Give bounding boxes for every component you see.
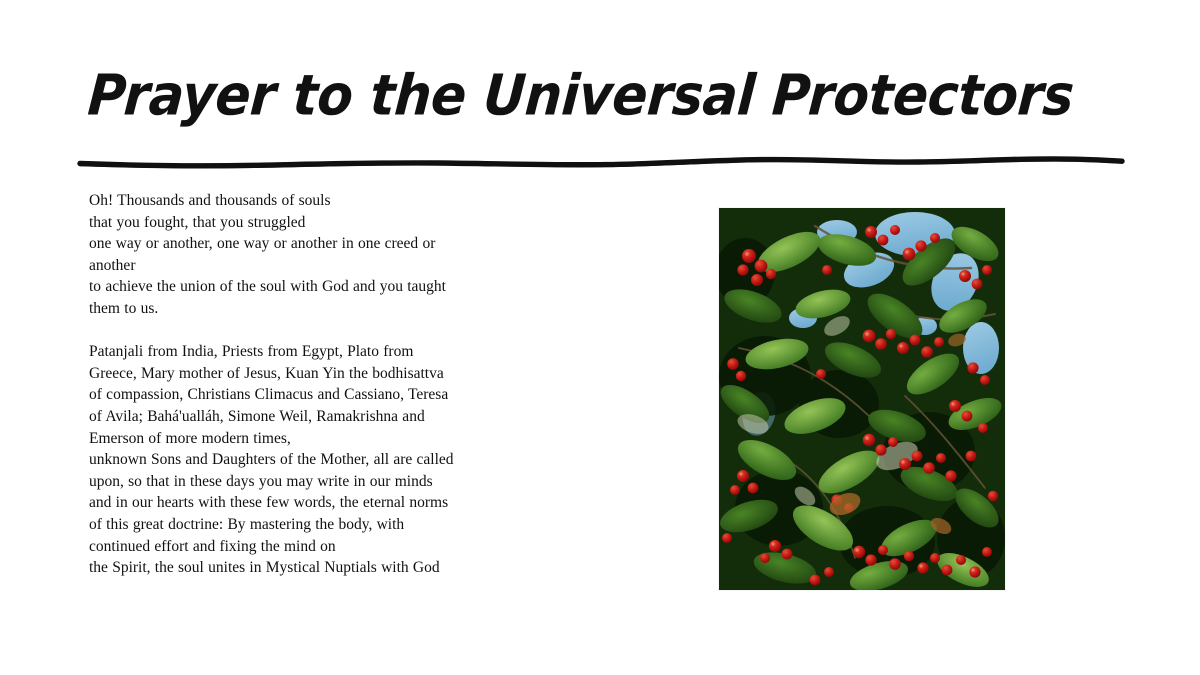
prayer-stanza-2: Patanjali from India, Priests from Egypt… xyxy=(89,341,589,579)
prayer-stanza-1: Oh! Thousands and thousands of souls tha… xyxy=(89,190,589,320)
prayer-text-column: Oh! Thousands and thousands of souls tha… xyxy=(89,190,589,579)
page-title: Prayer to the Universal Protectors xyxy=(86,61,1091,130)
title-block: Prayer to the Universal Protectors xyxy=(88,64,1088,136)
title-divider xyxy=(78,150,1124,176)
holly-bush-photo xyxy=(719,208,1005,590)
slide-canvas: Prayer to the Universal Protectors Oh! T… xyxy=(0,0,1200,675)
